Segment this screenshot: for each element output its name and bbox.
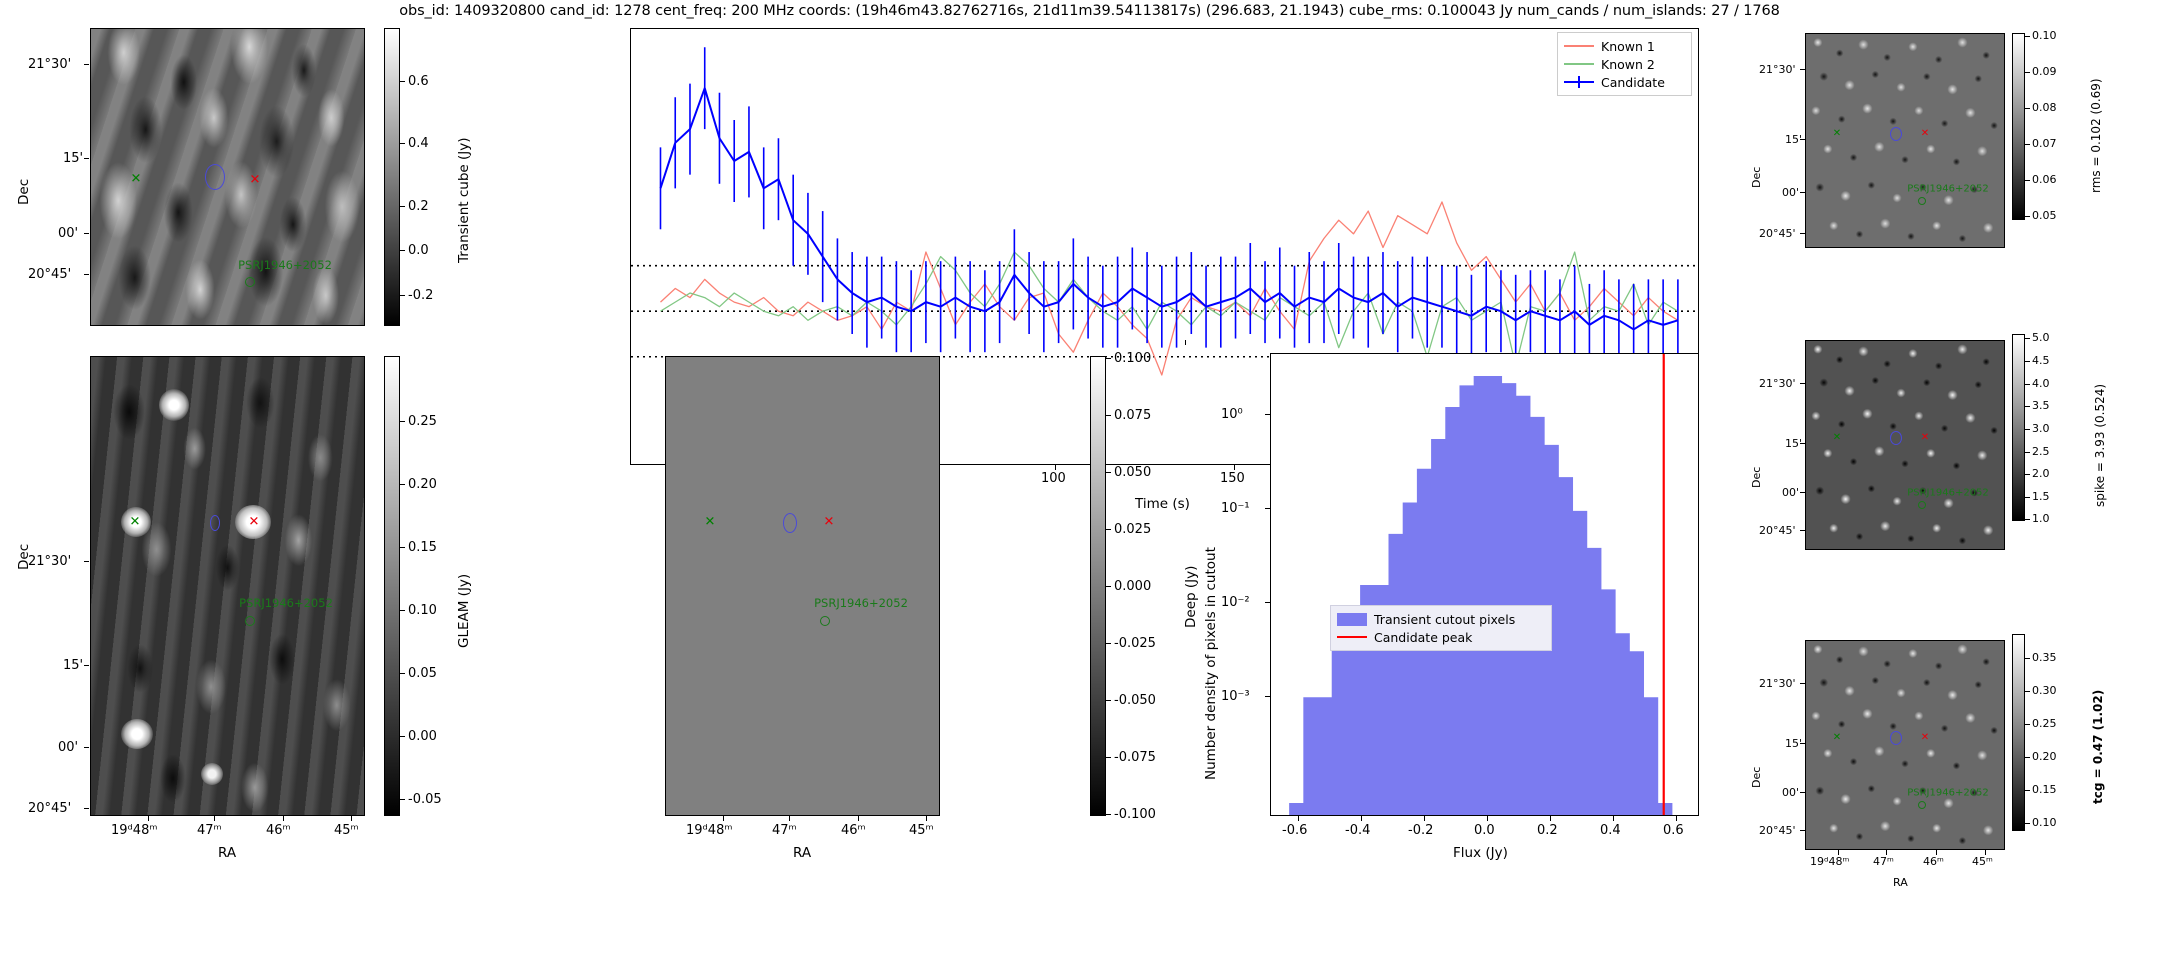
tickmark <box>214 816 215 821</box>
transient-cube-ytick: 15' <box>63 152 83 165</box>
spike-ylabel: Dec <box>1751 467 1762 488</box>
known-source-1-marker: ✕ <box>249 516 260 529</box>
legend-label: Candidate peak <box>1374 630 1472 645</box>
histogram-xtick: 0.2 <box>1537 824 1558 837</box>
known-source-2-marker: ✕ <box>130 516 141 529</box>
tickmark <box>1676 816 1677 821</box>
deep-xlabel: RA <box>793 847 811 861</box>
gleam-xlabel: RA <box>218 847 236 861</box>
legend-swatch-known2 <box>1564 58 1594 70</box>
candidate-ellipse <box>783 513 797 533</box>
colorbar-label: rms = 0.102 (0.69) <box>2090 78 2102 193</box>
colorbar-tick: 0.10 <box>2032 30 2057 41</box>
colorbar-tick: 2.5 <box>2032 446 2050 457</box>
pulsar-marker <box>1918 197 1926 205</box>
tickmark <box>400 81 405 82</box>
colorbar-tick: 3.0 <box>2032 423 2050 434</box>
known-source-1-marker: ✕ <box>824 516 835 529</box>
tcg-ytick: 21°30' <box>1759 678 1796 689</box>
gleam-ytick: 21°30' <box>28 555 71 568</box>
tickmark <box>400 736 405 737</box>
tickmark <box>2025 144 2030 145</box>
tickmark <box>283 816 284 821</box>
tickmark <box>2025 406 2030 407</box>
gleam-ytick: 20°45' <box>28 802 71 815</box>
colorbar-gradient <box>384 28 400 326</box>
deep-xtick: 47ᵐ <box>772 824 797 837</box>
colorbar-tick: -0.2 <box>408 289 433 302</box>
colorbar-tick: -0.100 <box>1114 808 1156 821</box>
bright-source <box>159 389 189 421</box>
candidate-ellipse <box>1890 127 1902 141</box>
tickmark <box>1106 814 1111 815</box>
colorbar-gradient <box>1090 356 1106 816</box>
tcg-ylabel: Dec <box>1751 767 1762 788</box>
colorbar-tick: -0.05 <box>408 793 442 806</box>
pulsar-label: PSRJ1946+2052 <box>1907 788 1989 799</box>
colorbar-tick: 1.5 <box>2032 491 2050 502</box>
sky-texture <box>666 357 939 815</box>
histogram-ylabel: Number density of pixels in cutout <box>1205 547 1219 780</box>
tickmark <box>400 610 405 611</box>
tickmark <box>1298 816 1299 821</box>
gleam-ytick: 15' <box>63 659 83 672</box>
tickmark <box>1487 816 1488 821</box>
tickmark <box>84 158 89 159</box>
tickmark <box>400 421 405 422</box>
candidate-ellipse <box>210 515 220 531</box>
gleam-xtick: 46ᵐ <box>266 824 291 837</box>
colorbar-tick: 0.0 <box>408 244 429 257</box>
known-source-2-marker: ✕ <box>1833 433 1841 443</box>
histogram-plot-area[interactable] <box>1270 353 1699 816</box>
pulsar-marker <box>1918 801 1926 809</box>
colorbar-tick: 0.15 <box>408 541 437 554</box>
colorbar-tick: 0.25 <box>408 415 437 428</box>
rms-ylabel: Dec <box>1751 167 1762 188</box>
tickmark <box>1106 643 1111 644</box>
legend-swatch-candidate <box>1564 76 1594 88</box>
tcg-colorbar[interactable]: 0.35 0.30 0.25 0.20 0.15 0.10 tcg = 0.47… <box>2012 634 2179 834</box>
pulsar-label: PSRJ1946+2052 <box>238 258 332 272</box>
tickmark <box>1106 358 1111 359</box>
tickmark <box>1106 529 1111 530</box>
colorbar-label: tcg = 0.47 (1.02) <box>2092 690 2104 804</box>
colorbar-tick: 0.4 <box>408 137 429 150</box>
tickmark <box>2025 36 2030 37</box>
gleam-xtick: 45ᵐ <box>334 824 359 837</box>
tickmark <box>84 233 89 234</box>
legend-label: Known 2 <box>1601 57 1655 72</box>
known-source-1-marker: ✕ <box>1921 433 1929 443</box>
tickmark <box>2025 338 2030 339</box>
tickmark <box>1106 700 1111 701</box>
colorbar-tick: 0.10 <box>408 604 437 617</box>
colorbar-tick: 0.05 <box>2032 210 2057 221</box>
tickmark <box>1106 415 1111 416</box>
colorbar-tick: 0.15 <box>2032 784 2057 795</box>
legend-label: Candidate <box>1601 75 1665 90</box>
gleam-xtick: 19ᵈ48ᵐ <box>111 824 157 837</box>
tickmark <box>351 816 352 821</box>
histogram-xtick: -0.2 <box>1408 824 1433 837</box>
known-source-2-marker: ✕ <box>131 173 142 186</box>
histogram-xtick: -0.6 <box>1282 824 1307 837</box>
colorbar-tick: 0.10 <box>2032 817 2057 828</box>
colorbar-tick: 0.00 <box>408 730 437 743</box>
transient-cube-image[interactable]: ✕ ✕ PSRJ1946+2052 <box>90 28 365 326</box>
spike-ytick: 00' <box>1782 487 1799 498</box>
transient-cube-ytick: 21°30' <box>28 58 71 71</box>
tickmark <box>2025 497 2030 498</box>
tcg-xtick: 47ᵐ <box>1873 856 1894 867</box>
histogram-xtick: -0.4 <box>1345 824 1370 837</box>
deep-xtick: 19ᵈ48ᵐ <box>686 824 732 837</box>
tickmark <box>1106 757 1111 758</box>
gleam-xtick: 47ᵐ <box>197 824 222 837</box>
tickmark <box>2025 658 2030 659</box>
colorbar-tick: 1.0 <box>2032 513 2050 524</box>
colorbar-label: spike = 3.93 (0.524) <box>2094 384 2106 507</box>
legend-item-known2: Known 2 <box>1564 55 1685 73</box>
histogram-ytick: 10⁻¹ <box>1221 502 1250 515</box>
colorbar-gradient <box>384 356 400 816</box>
histogram-xtick: 0.0 <box>1474 824 1495 837</box>
tickmark <box>1613 816 1614 821</box>
rms-image[interactable]: ✕ ✕ PSRJ1946+2052 <box>1805 33 2005 248</box>
spike-colorbar[interactable]: 5.0 4.5 4.0 3.5 3.0 2.5 2.0 1.5 1.0 spik… <box>2012 334 2179 524</box>
deep-xtick: 45ᵐ <box>909 824 934 837</box>
colorbar-gradient <box>2012 634 2025 831</box>
tickmark <box>84 274 89 275</box>
tickmark <box>84 64 89 65</box>
legend-item-candidate-peak: Candidate peak <box>1337 628 1545 646</box>
tickmark <box>84 561 89 562</box>
colorbar-tick: 0.07 <box>2032 138 2057 149</box>
colorbar-tick: 0.20 <box>2032 751 2057 762</box>
tickmark <box>1106 586 1111 587</box>
tickmark <box>2025 384 2030 385</box>
known-source-2-marker: ✕ <box>1833 129 1841 139</box>
pulsar-label: PSRJ1946+2052 <box>239 596 333 610</box>
colorbar-tick: 2.0 <box>2032 468 2050 479</box>
tcg-xlabel: RA <box>1893 877 1908 888</box>
colorbar-tick: 0.20 <box>408 478 437 491</box>
histogram-ytick: 10⁰ <box>1221 408 1243 421</box>
colorbar-tick: 5.0 <box>2032 332 2050 343</box>
sky-texture <box>1806 34 2004 247</box>
legend-swatch-known1 <box>1564 40 1594 52</box>
colorbar-tick: 0.100 <box>1114 352 1151 365</box>
sky-texture <box>1806 341 2004 549</box>
tickmark <box>400 295 405 296</box>
tickmark <box>84 665 89 666</box>
colorbar-label: Transient cube (Jy) <box>458 137 472 263</box>
tickmark <box>84 747 89 748</box>
tickmark <box>2025 429 2030 430</box>
tickmark <box>2025 757 2030 758</box>
known-source-1-marker: ✕ <box>1921 733 1929 743</box>
tickmark <box>400 799 405 800</box>
pulsar-label: PSRJ1946+2052 <box>814 596 908 610</box>
tickmark <box>2025 724 2030 725</box>
tickmark <box>2025 108 2030 109</box>
histogram-xlabel: Flux (Jy) <box>1453 847 1508 861</box>
legend-label: Known 1 <box>1601 39 1655 54</box>
colorbar-tick: 0.2 <box>408 200 429 213</box>
tickmark <box>2025 216 2030 217</box>
colorbar-gradient <box>2012 334 2025 521</box>
tickmark <box>926 816 927 821</box>
pulsar-label: PSRJ1946+2052 <box>1907 184 1989 195</box>
candidate-ellipse <box>1890 431 1902 445</box>
colorbar-tick: -0.050 <box>1114 694 1156 707</box>
tickmark <box>2025 790 2030 791</box>
spike-image[interactable]: ✕ ✕ PSRJ1946+2052 <box>1805 340 2005 550</box>
tickmark <box>1185 340 1186 345</box>
tickmark <box>1424 816 1425 821</box>
histogram-xtick: 0.6 <box>1663 824 1684 837</box>
transient-cube-ytick: 20°45' <box>28 268 71 281</box>
colorbar-tick: 3.5 <box>2032 400 2050 411</box>
pulsar-marker <box>245 616 255 626</box>
colorbar-tick: 0.075 <box>1114 409 1151 422</box>
rms-colorbar[interactable]: 0.10 0.09 0.08 0.07 0.06 0.05 rms = 0.10… <box>2012 33 2179 223</box>
tcg-xtick: 46ᵐ <box>1923 856 1944 867</box>
colorbar-gradient <box>2012 33 2025 220</box>
tickmark <box>400 143 405 144</box>
tickmark <box>1361 816 1362 821</box>
legend-item-candidate: Candidate <box>1564 73 1685 91</box>
tickmark <box>148 816 149 821</box>
tickmark <box>723 816 724 821</box>
rms-ytick: 20°45' <box>1759 228 1796 239</box>
transient-cube-ylabel: Dec <box>18 179 32 205</box>
tickmark <box>2025 72 2030 73</box>
tickmark <box>400 673 405 674</box>
transient-cube-colorbar[interactable]: 0.6 0.4 0.2 0.0 -0.2 Transient cube (Jy) <box>384 28 530 328</box>
tickmark <box>858 816 859 821</box>
legend-swatch-candidate-peak <box>1337 631 1367 643</box>
tickmark <box>1550 816 1551 821</box>
tickmark <box>400 250 405 251</box>
known-source-1-marker: ✕ <box>250 174 261 187</box>
tickmark <box>400 484 405 485</box>
tickmark <box>400 547 405 548</box>
known-source-1-marker: ✕ <box>1921 129 1929 139</box>
colorbar-label: GLEAM (Jy) <box>458 574 472 648</box>
colorbar-tick: 0.000 <box>1114 580 1151 593</box>
legend-item-transient-pixels: Transient cutout pixels <box>1337 610 1545 628</box>
pulsar-label: PSRJ1946+2052 <box>1907 488 1989 499</box>
tickmark <box>400 206 405 207</box>
bright-source <box>201 763 223 785</box>
tcg-image[interactable]: ✕ ✕ PSRJ1946+2052 <box>1805 640 2005 850</box>
tcg-ytick: 00' <box>1782 787 1799 798</box>
pulsar-marker <box>820 616 830 626</box>
pulsar-marker <box>1918 501 1926 509</box>
sky-texture <box>1806 641 2004 849</box>
colorbar-tick: 0.025 <box>1114 523 1151 536</box>
gleam-colorbar[interactable]: 0.25 0.20 0.15 0.10 0.05 0.00 -0.05 GLEA… <box>384 356 530 818</box>
tickmark <box>789 816 790 821</box>
tickmark <box>2025 361 2030 362</box>
candidate-ellipse <box>1890 731 1902 745</box>
histogram-xtick: 0.4 <box>1600 824 1621 837</box>
transient-cube-ytick: 00' <box>58 227 78 240</box>
histogram-legend: Transient cutout pixels Candidate peak <box>1330 605 1552 651</box>
tcg-ytick: 20°45' <box>1759 825 1796 836</box>
colorbar-tick: 0.08 <box>2032 102 2057 113</box>
deep-xtick: 46ᵐ <box>841 824 866 837</box>
legend-swatch-transient-pixels <box>1337 613 1367 626</box>
colorbar-tick: 4.5 <box>2032 355 2050 366</box>
known-source-2-marker: ✕ <box>1833 733 1841 743</box>
colorbar-tick: 0.09 <box>2032 66 2057 77</box>
tickmark <box>1106 472 1111 473</box>
colorbar-tick: 4.0 <box>2032 378 2050 389</box>
tcg-xtick: 19ᵈ48ᵐ <box>1810 856 1849 867</box>
tickmark <box>2025 691 2030 692</box>
colorbar-tick: -0.025 <box>1114 637 1156 650</box>
histogram-svg <box>1271 354 1699 816</box>
colorbar-tick: 0.06 <box>2032 174 2057 185</box>
spike-ytick: 20°45' <box>1759 525 1796 536</box>
histogram-ytick: 10⁻² <box>1221 596 1250 609</box>
colorbar-tick: 0.050 <box>1114 466 1151 479</box>
panel-deep: ✕ ✕ PSRJ1946+2052 19ᵈ48ᵐ 47ᵐ 46ᵐ 45ᵐ RA <box>630 340 1160 960</box>
tickmark <box>2025 452 2030 453</box>
lightcurve-legend: Known 1 Known 2 Candidate <box>1557 32 1692 96</box>
tickmark <box>2025 519 2030 520</box>
legend-label: Transient cutout pixels <box>1374 612 1515 627</box>
known-source-2-marker: ✕ <box>705 516 716 529</box>
tickmark <box>84 808 89 809</box>
tcg-xtick: 45ᵐ <box>1972 856 1993 867</box>
gleam-ytick: 00' <box>58 741 78 754</box>
colorbar-tick: 0.30 <box>2032 685 2057 696</box>
colorbar-tick: 0.05 <box>408 667 437 680</box>
tickmark <box>2025 474 2030 475</box>
tickmark <box>2025 823 2030 824</box>
legend-item-known1: Known 1 <box>1564 37 1685 55</box>
colorbar-tick: 0.6 <box>408 75 429 88</box>
spike-ytick: 21°30' <box>1759 378 1796 389</box>
bright-source <box>121 719 153 749</box>
colorbar-tick: 0.25 <box>2032 718 2057 729</box>
rms-ytick: 21°30' <box>1759 64 1796 75</box>
colorbar-tick: -0.075 <box>1114 751 1156 764</box>
colorbar-tick: 0.35 <box>2032 652 2057 663</box>
pulsar-marker <box>245 277 255 287</box>
gleam-image[interactable]: ✕ ✕ PSRJ1946+2052 <box>90 356 365 816</box>
candidate-ellipse <box>205 164 225 190</box>
panel-flux-histogram: Number density of pixels in cutout 10⁰ 1… <box>1185 340 1715 960</box>
tickmark <box>2025 180 2030 181</box>
deep-image[interactable]: ✕ ✕ PSRJ1946+2052 <box>665 356 940 816</box>
rms-ytick: 00' <box>1782 187 1799 198</box>
histogram-ytick: 10⁻³ <box>1221 690 1250 703</box>
